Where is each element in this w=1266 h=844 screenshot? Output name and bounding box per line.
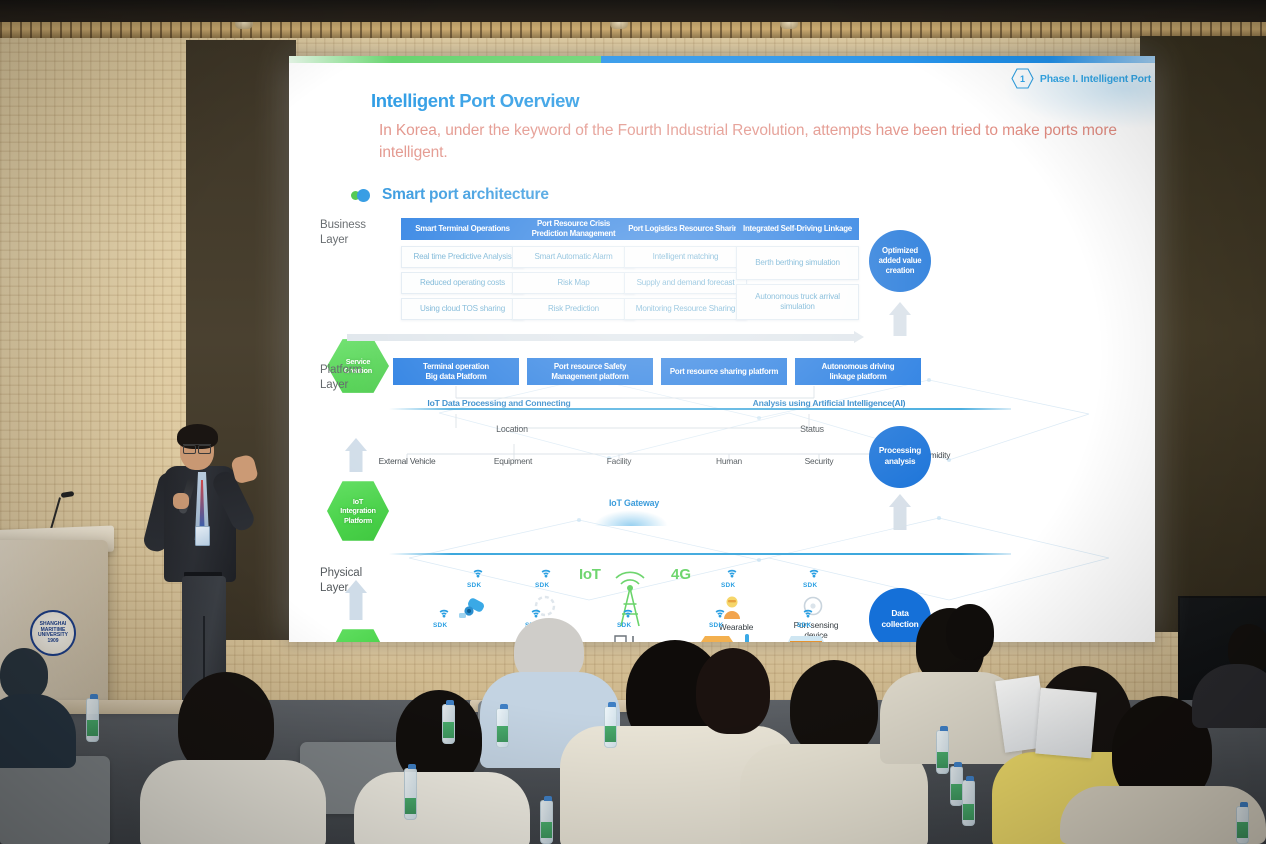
warehouse-icon [785,632,827,642]
iot-gateway-label: IoT Gateway [609,498,659,508]
wifi-icon [713,606,727,621]
sdk-label: SDK [617,622,631,629]
iot-network-word: IoT [579,566,601,583]
business-item[interactable]: Berth berthing simulation [736,246,859,280]
water-bottle [496,708,509,748]
audience-head [946,604,994,660]
business-col-header-3[interactable]: Port Logistics Resource Sharing [624,218,747,240]
phase-label: Phase I. Intelligent Port [1040,73,1151,85]
section-heading-label: Smart port architecture [382,186,549,204]
sdk-label: SDK [797,622,811,629]
bullet-dot-icon [351,189,369,202]
physical-layer-divider [389,553,1011,555]
phase-badge: 1 Phase I. Intelligent Port [1011,68,1151,89]
up-arrow-physical-left [345,580,367,620]
presenter-badge [195,526,210,546]
wifi-icon [725,566,739,581]
section-heading: Smart port architecture [351,186,549,204]
sdk-label: SDK [709,622,723,629]
business-col-header-1[interactable]: Smart Terminal Operations [401,218,524,240]
truck-icon [425,634,463,642]
platform-branch-mid-1: Location [457,424,567,434]
water-bottle [404,768,417,820]
platform-layer-label: Platform Layer [320,363,362,394]
platform-branch-top-2: Analysis using Artificial Intelligence(A… [714,398,944,408]
business-col-header-2[interactable]: Port Resource Crisis Prediction Manageme… [512,218,635,240]
platform-leaf: Security [773,456,865,467]
business-item[interactable]: Smart Automatic Alarm [512,246,635,268]
water-bottle [442,704,455,744]
business-item[interactable]: Real time Predictive Analysis [401,246,524,268]
platform-leaf: Human [683,456,775,467]
sdk-label: SDK [467,582,481,589]
platform-branch-mid-2: Status [757,424,867,434]
business-item[interactable]: Autonomous truck arrival simulation [736,284,859,320]
wifi-icon [539,566,553,581]
business-col-header-4[interactable]: Integrated Self-Driving Linkage [736,218,859,240]
audience-head [696,648,770,734]
platform-header-1[interactable]: Terminal operation Big data Platform [393,358,519,385]
water-bottle [540,800,553,844]
up-arrow-platform-left [345,438,367,472]
sdk-label: SDK [433,622,447,629]
slide-accent-bar-fade [289,56,1155,64]
platform-layer-divider [389,408,1011,410]
circle-badge-processing-analysis: Processing analysis [869,426,931,488]
circle-badge-optimized-value: Optimized added value creation [869,230,931,292]
chair [0,756,110,844]
wifi-icon [621,606,635,621]
phase-number: 1 [1020,74,1025,84]
platform-leaf: External Vehicle [361,456,453,467]
slide: 1 Phase I. Intelligent Port Intelligent … [289,56,1155,642]
camera-icon [457,594,489,620]
forklift-icon [607,632,649,642]
ceiling-light [235,22,253,29]
business-timeline-arrow [347,334,855,341]
handout-paper [1035,688,1097,759]
platform-header-4[interactable]: Autonomous driving linkage platform [795,358,921,385]
iot-gateway-glow-icon [594,510,668,526]
hex-badge-iot-communication-infrastructure: IoT communication infrastructure [327,628,389,642]
thermometer-icon [741,632,753,642]
platform-branch-top-1: IoT Data Processing and Connecting [399,398,599,408]
business-item[interactable]: Using cloud TOS sharing [401,298,524,320]
up-arrow-business [889,302,911,336]
business-item[interactable]: Reduced operating costs [401,272,524,294]
platform-leaf: Facility [573,456,665,467]
platform-header-2[interactable]: Port resource Safety Management platform [527,358,653,385]
audience-head [790,660,878,756]
ceiling-light [610,22,628,29]
business-item[interactable]: Monitoring Resource Sharing [624,298,747,320]
slide-title: Intelligent Port Overview [371,90,579,112]
business-item[interactable]: Risk Map [512,272,635,294]
water-bottle [86,698,99,742]
projection-screen: 1 Phase I. Intelligent Port Intelligent … [289,56,1155,642]
business-item[interactable]: Risk Prediction [512,298,635,320]
4g-network-word: 4G [671,566,691,583]
up-arrow-platform-right [889,494,911,530]
hex-badge-iot-integration-platform: IoT Integration Platform [327,480,389,542]
wall-dark-band-right [1140,36,1266,632]
wifi-icon [471,566,485,581]
platform-leaf: Equipment [467,456,559,467]
business-layer-label: Business Layer [320,218,366,249]
sdk-label: SDK [721,582,735,589]
wifi-icon [437,606,451,621]
sdk-label: SDK [535,582,549,589]
audience-body [354,772,530,844]
ceiling-light [780,22,798,29]
building-icon [697,632,739,642]
phase-number-hexagon: 1 [1011,68,1034,89]
glasses-icon [183,444,211,451]
business-item[interactable]: Intelligent matching [624,246,747,268]
conference-room-photo: 1 Phase I. Intelligent Port Intelligent … [0,0,1266,844]
smart-port-architecture-diagram: Business Layer Service Creation Smart Te… [289,208,1155,638]
slide-subtitle: In Korea, under the keyword of the Fourt… [379,120,1129,164]
university-seal: SHANGHAI MARITIME UNIVERSITY 1909 [30,610,76,656]
wifi-icon [807,566,821,581]
ceiling-rail [0,22,1266,38]
business-item[interactable]: Supply and demand forecast [624,272,747,294]
sdk-label: SDK [803,582,817,589]
water-bottle [950,766,963,806]
platform-header-3[interactable]: Port resource sharing platform [661,358,787,385]
water-bottle [1236,806,1249,844]
audience-head [0,648,48,700]
water-bottle [962,780,975,826]
water-bottle [936,730,949,774]
wifi-icon [801,606,815,621]
audience-body [140,760,326,844]
water-bottle [604,706,617,748]
